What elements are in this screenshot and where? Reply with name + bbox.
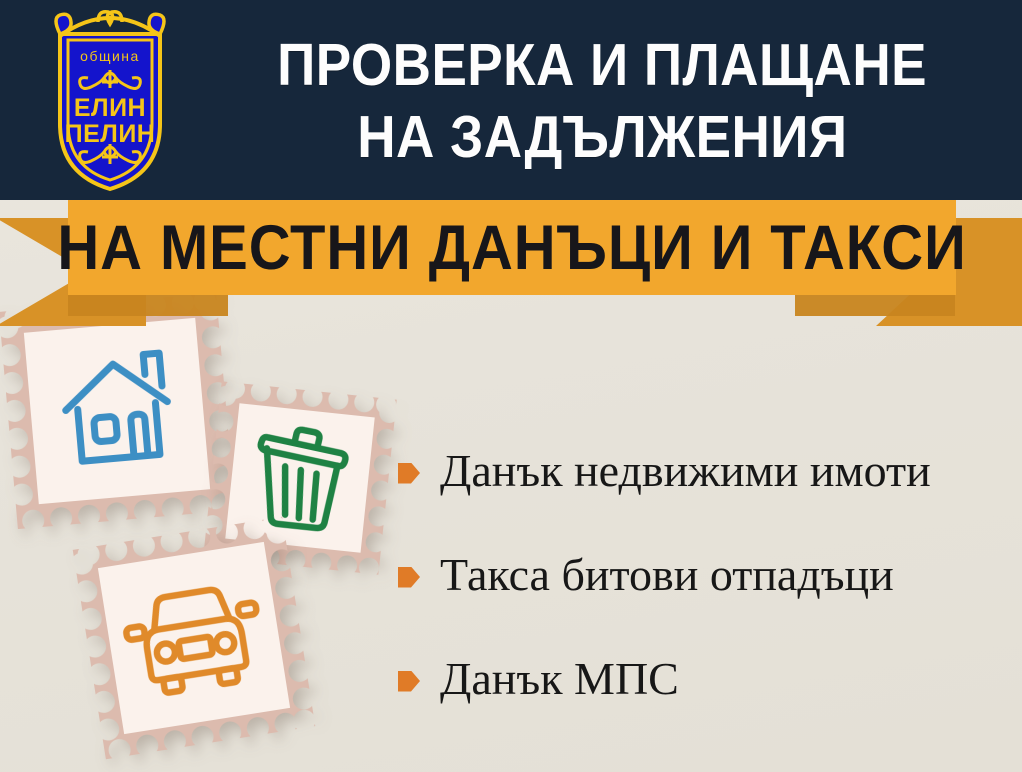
stamp-car (73, 517, 316, 760)
ribbon-band: НА МЕСТНИ ДАНЪЦИ И ТАКСИ (68, 200, 956, 295)
page-title-line-1: ПРОВЕРКА И ПЛАЩАНЕ (277, 29, 927, 101)
list-item[interactable]: Данък недвижими имоти (398, 432, 1022, 510)
list-item-label: Такса битови отпадъци (440, 549, 894, 601)
list-item[interactable]: Данък МПС (398, 640, 1022, 718)
ribbon-label: НА МЕСТНИ ДАНЪЦИ И ТАКСИ (104, 200, 921, 295)
coat-of-arms: община ЕЛИН ПЕЛИН (30, 6, 190, 194)
crest-name-line-1: ЕЛИН (74, 94, 146, 122)
list-item[interactable]: Такса битови отпадъци (398, 536, 1022, 614)
page-title-line-2: НА ЗАДЪЛЖЕНИЯ (357, 101, 847, 173)
page-title: ПРОВЕРКА И ПЛАЩАНЕ НА ЗАДЪЛЖЕНИЯ (196, 18, 1008, 183)
arrow-bullet-icon (398, 671, 420, 692)
subtitle-ribbon: НА МЕСТНИ ДАНЪЦИ И ТАКСИ (0, 200, 1022, 315)
stamp-house (0, 293, 235, 529)
poster-root: община ЕЛИН ПЕЛИН ПРОВЕРКА И ПЛАЩАНЕ НА … (0, 0, 1022, 772)
crest-name-line-2: ПЕЛИН (65, 120, 156, 148)
list-item-label: Данък недвижими имоти (440, 445, 931, 497)
ribbon-fold-left (68, 292, 228, 316)
arrow-bullet-icon (398, 567, 420, 588)
stamp-collage (0, 300, 420, 772)
list-item-label: Данък МПС (440, 653, 679, 705)
services-list: Данък недвижими имоти Такса битови отпад… (398, 432, 1022, 744)
ribbon-fold-right (795, 292, 955, 316)
arrow-bullet-icon (398, 463, 420, 484)
crest-small-text: община (80, 48, 140, 64)
